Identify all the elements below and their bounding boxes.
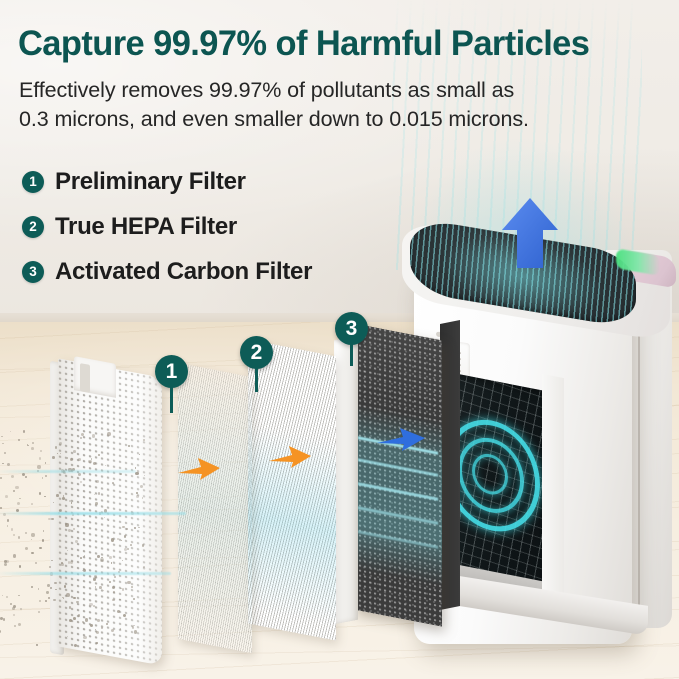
list-item-true-hepa-filter: 2 True HEPA Filter xyxy=(22,207,312,247)
preliminary-filter-tint xyxy=(178,363,252,653)
prefilter-handle-slot xyxy=(80,363,90,393)
list-badge-3: 3 xyxy=(22,261,44,283)
list-badge-1: 1 xyxy=(22,171,44,193)
true-hepa-filter xyxy=(248,348,360,648)
carbon-filter-airflow-tint xyxy=(354,323,442,626)
callout-badge-2-number: 2 xyxy=(240,336,273,369)
airflow-arrow-3 xyxy=(375,424,427,454)
hepa-filter-airflow-tint xyxy=(248,339,336,640)
callout-badge-3-number: 3 xyxy=(335,312,368,345)
callout-badge-1-number: 1 xyxy=(155,355,188,388)
airborne-dust-particles xyxy=(0,430,144,645)
callout-badge-1[interactable]: 1 xyxy=(155,355,188,388)
list-item-preliminary-filter: 1 Preliminary Filter xyxy=(22,162,312,202)
purifier-door-lip xyxy=(542,374,564,614)
clean-air-output-arrow xyxy=(498,196,562,270)
list-item-activated-carbon-filter: 3 Activated Carbon Filter xyxy=(22,252,312,292)
subtitle-line-1: Effectively removes 99.97% of pollutants… xyxy=(19,76,659,105)
airflow-arrow-1 xyxy=(176,455,222,483)
callout-badge-3[interactable]: 3 xyxy=(335,312,368,345)
list-badge-2: 2 xyxy=(22,216,44,238)
page-title: Capture 99.97% of Harmful Particles xyxy=(18,24,668,64)
page-subtitle: Effectively removes 99.97% of pollutants… xyxy=(19,76,659,134)
list-label-1: Preliminary Filter xyxy=(55,168,246,196)
callout-badge-2[interactable]: 2 xyxy=(240,336,273,369)
carbon-filter-side xyxy=(440,320,460,610)
preliminary-filter-sheet xyxy=(178,370,252,658)
activated-carbon-filter xyxy=(354,332,462,632)
subtitle-line-2: 0.3 microns, and even smaller down to 0.… xyxy=(19,105,659,134)
product-feature-image: 1 2 3 Capture 99.97% of Harmful Particle… xyxy=(0,0,679,679)
filter-list: 1 Preliminary Filter 2 True HEPA Filter … xyxy=(22,162,312,297)
list-label-3: Activated Carbon Filter xyxy=(55,258,312,286)
list-label-2: True HEPA Filter xyxy=(55,213,237,241)
hepa-filter-side xyxy=(334,336,358,625)
airflow-arrow-2 xyxy=(267,443,313,471)
